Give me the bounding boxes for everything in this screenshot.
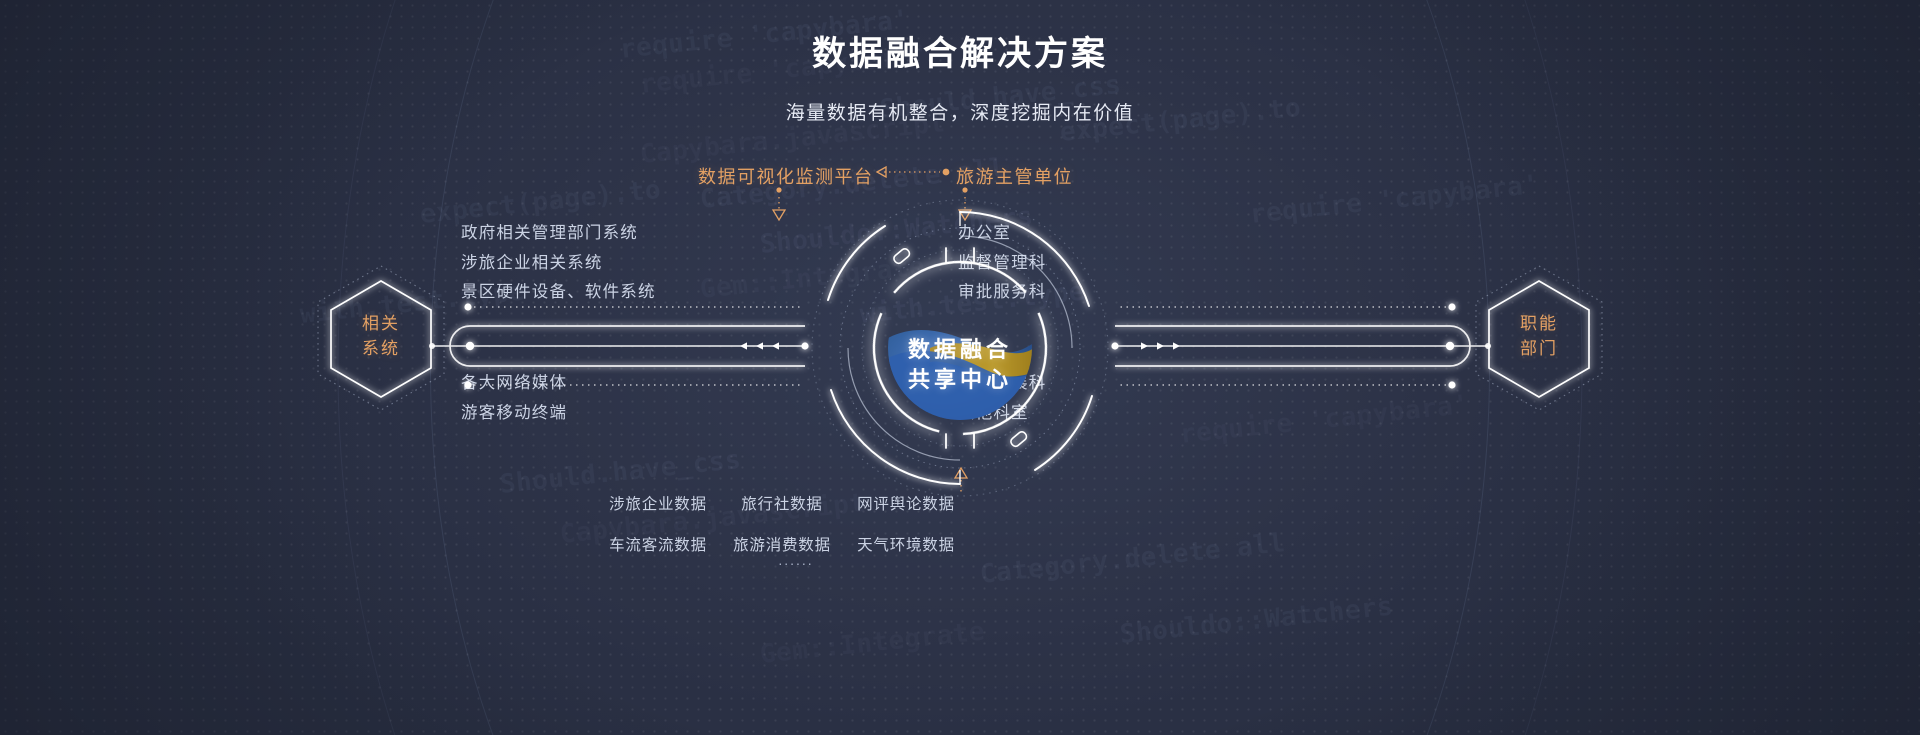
poster-stage: Capybara.javascriptCategory.delete allSh… xyxy=(0,0,1920,735)
drop-line-visualization xyxy=(773,187,785,220)
drop-line-authority xyxy=(959,187,971,220)
left-flow-arrows xyxy=(740,342,779,349)
page-title: 数据融合解决方案 xyxy=(0,34,1920,75)
left-connector-bus xyxy=(432,307,805,385)
right-flow-arrows xyxy=(1141,342,1180,349)
hexagon-right[interactable] xyxy=(1476,266,1602,410)
right-connector-bus xyxy=(1115,307,1488,385)
page-subtitle: 海量数据有机整合，深度挖掘内在价值 xyxy=(0,98,1920,125)
poster-header: 数据融合解决方案 海量数据有机整合，深度挖掘内在价值 xyxy=(0,34,1920,125)
bottom-riser-arrow xyxy=(955,468,967,494)
hexagon-left[interactable] xyxy=(318,266,444,410)
top-label-connector xyxy=(877,167,949,177)
